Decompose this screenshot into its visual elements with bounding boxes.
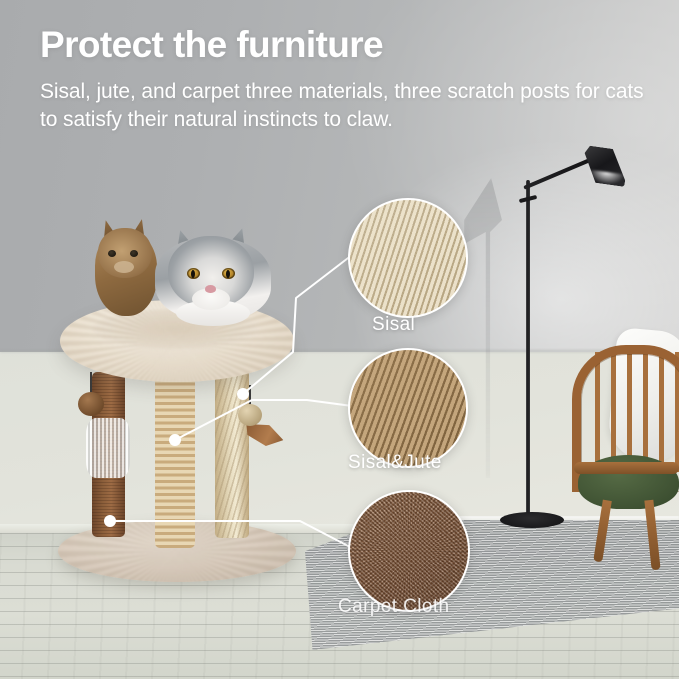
product-infographic: Sisal Sisal&Jute Carpet Cloth Protect th… bbox=[0, 0, 679, 679]
swatch-label-sisal-jute: Sisal&Jute bbox=[348, 452, 442, 474]
sisal-ball-toy bbox=[238, 404, 262, 426]
kitten-eye-right bbox=[130, 250, 138, 257]
sisal-ball-string bbox=[249, 385, 251, 405]
headline: Protect the furniture bbox=[40, 26, 383, 65]
sisal-rope-swatch bbox=[348, 198, 468, 318]
shorthair-pupil-right bbox=[226, 270, 230, 278]
jute-post bbox=[155, 368, 195, 548]
swatch-label-carpet-cloth: Carpet Cloth bbox=[338, 596, 449, 618]
kitten-eye-left bbox=[108, 250, 116, 257]
carpet-loop-swatch bbox=[348, 490, 470, 612]
swatch-label-sisal: Sisal bbox=[372, 314, 415, 336]
pom-pom-string bbox=[90, 372, 92, 394]
floor-lamp-base bbox=[500, 512, 564, 528]
chair-seat-rail bbox=[574, 462, 679, 474]
shorthair-pupil-left bbox=[191, 270, 195, 278]
shorthair-nose bbox=[205, 285, 216, 293]
pom-pom-toy bbox=[78, 392, 104, 416]
jute-rope-swatch bbox=[348, 348, 468, 468]
floor-lamp-pole bbox=[526, 180, 530, 521]
kitten-muzzle bbox=[114, 261, 134, 273]
sisal-post bbox=[215, 370, 249, 538]
grooming-brush bbox=[86, 418, 130, 478]
subtitle: Sisal, jute, and carpet three materials,… bbox=[40, 78, 654, 134]
